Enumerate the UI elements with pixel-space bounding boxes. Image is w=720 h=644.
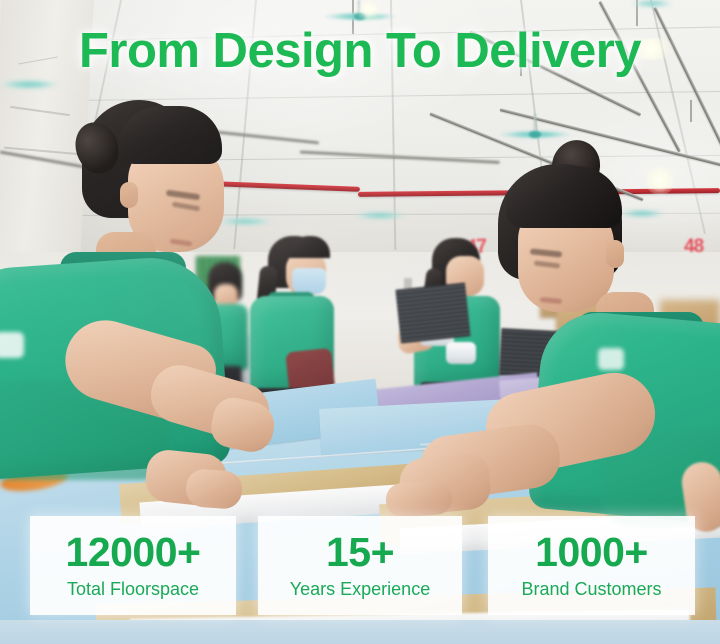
stat-card-total-floorspace: 12000+ Total Floorspace bbox=[30, 516, 236, 615]
headline-text: From Design To Delivery bbox=[79, 24, 641, 78]
stat-value: 1000+ bbox=[535, 530, 648, 574]
ceiling-lamp bbox=[356, 0, 382, 20]
stat-label: Years Experience bbox=[290, 577, 430, 601]
ceiling-fan bbox=[632, 0, 672, 7]
ceiling-lamp bbox=[645, 165, 675, 195]
ceiling-fan bbox=[0, 80, 58, 89]
stat-card-brand-customers: 1000+ Brand Customers bbox=[488, 516, 695, 615]
stat-value: 15+ bbox=[326, 530, 394, 574]
stat-value: 12000+ bbox=[66, 530, 201, 574]
headline: From Design To Delivery bbox=[0, 22, 720, 80]
stat-card-years-experience: 15+ Years Experience bbox=[258, 516, 462, 615]
table-bottom-band bbox=[0, 620, 720, 644]
stacked-product bbox=[395, 282, 470, 343]
stat-label: Total Floorspace bbox=[67, 577, 199, 601]
rail-hanger bbox=[690, 100, 692, 122]
stat-label: Brand Customers bbox=[521, 577, 661, 601]
fan-hub bbox=[529, 131, 541, 138]
ceiling-fan bbox=[355, 212, 405, 219]
wall-number-48: 48 bbox=[684, 236, 703, 258]
ceiling-fan bbox=[218, 218, 272, 225]
promo-banner: 47 48 bbox=[0, 0, 720, 644]
ceiling-fan bbox=[620, 210, 664, 217]
